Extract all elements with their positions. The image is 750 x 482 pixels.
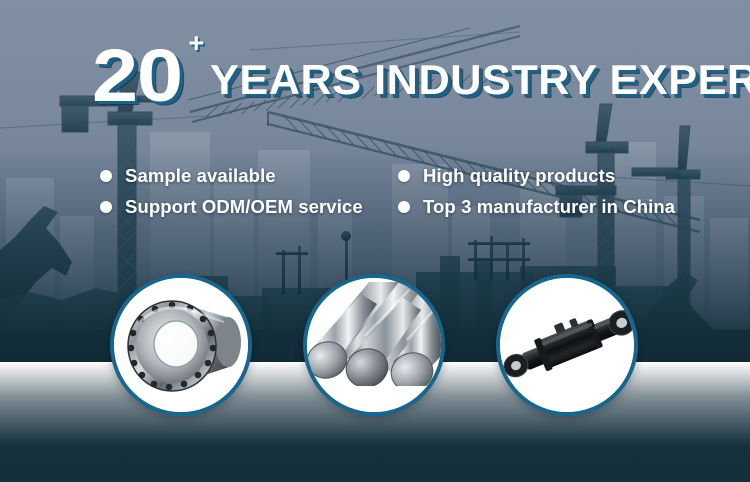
list-item: Sample available <box>100 160 363 191</box>
feature-list-right: High quality products Top 3 manufacturer… <box>398 160 675 222</box>
list-item: High quality products <box>398 160 675 191</box>
years-number: 20 <box>92 46 182 107</box>
feature-label: Sample available <box>125 165 276 187</box>
product-circle-steel-round-bars <box>303 274 445 416</box>
headline-text: YEARS INDUSTRY EXPERIENCE <box>210 59 750 101</box>
list-item: Support ODM/OEM service <box>100 191 363 222</box>
headline: 20 + YEARS INDUSTRY EXPERIENCE <box>92 44 750 105</box>
feature-label: Top 3 manufacturer in China <box>423 196 675 218</box>
feature-label: Support ODM/OEM service <box>125 196 363 218</box>
plus-superscript: + <box>188 28 204 59</box>
steel-flange-pipe-image <box>114 278 248 412</box>
bullet-dot-icon <box>100 201 112 213</box>
feature-list-left: Sample available Support ODM/OEM service <box>100 160 363 222</box>
list-item: Top 3 manufacturer in China <box>398 191 675 222</box>
feature-label: High quality products <box>423 165 615 187</box>
product-circle-steel-flange-pipe <box>110 274 252 416</box>
bullet-dot-icon <box>100 170 112 182</box>
steel-round-bars-image <box>307 278 441 412</box>
bullet-dot-icon <box>398 201 410 213</box>
industrial-promo-banner: 20 + YEARS INDUSTRY EXPERIENCE Sample av… <box>0 0 750 482</box>
bullet-dot-icon <box>398 170 410 182</box>
product-circle-hydraulic-cylinder <box>496 274 638 416</box>
hydraulic-cylinder-image <box>500 278 634 412</box>
